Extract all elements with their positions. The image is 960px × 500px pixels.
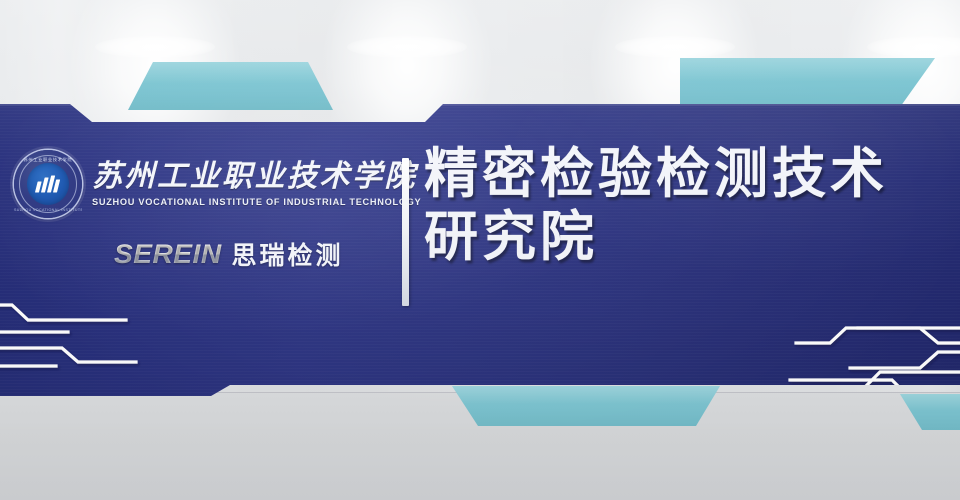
teal-slab-shading	[128, 62, 333, 110]
teal-slab-bottom-center	[452, 386, 720, 426]
seal-monogram-icon	[35, 176, 61, 193]
university-seal-icon: 苏州工业职业技术学院 SUZHOU VOCATIONAL INSTITUTE	[14, 150, 82, 218]
vertical-divider-bar	[402, 158, 409, 306]
partner-brand-en: SEREIN	[114, 239, 222, 270]
title-line-1: 精密检验检测技术	[424, 142, 954, 205]
title-line-2: 研究院	[424, 205, 954, 268]
seal-core	[27, 163, 69, 205]
teal-slab-top-left	[128, 62, 333, 110]
signage-scene: 苏州工业职业技术学院 SUZHOU VOCATIONAL INSTITUTE 苏…	[0, 0, 960, 500]
seal-arc-text-bottom: SUZHOU VOCATIONAL INSTITUTE	[14, 208, 82, 212]
trace-group-left	[0, 305, 136, 366]
university-logo-row: 苏州工业职业技术学院 SUZHOU VOCATIONAL INSTITUTE 苏…	[14, 150, 394, 218]
teal-slab-shading	[452, 386, 720, 426]
teal-slab-top-right	[680, 58, 935, 110]
university-name-cn: 苏州工业职业技术学院	[92, 161, 421, 193]
university-name-en: SUZHOU VOCATIONAL INSTITUTE OF INDUSTRIA…	[92, 197, 421, 207]
page-title: 精密检验检测技术 研究院	[424, 142, 954, 268]
signage-board: 苏州工业职业技术学院 SUZHOU VOCATIONAL INSTITUTE 苏…	[0, 100, 960, 396]
partner-brand-row: SEREIN 思瑞检测	[114, 236, 394, 272]
logo-block: 苏州工业职业技术学院 SUZHOU VOCATIONAL INSTITUTE 苏…	[14, 150, 394, 272]
partner-brand-cn: 思瑞检测	[232, 236, 344, 272]
teal-slab-shading	[680, 58, 935, 110]
board-content: 苏州工业职业技术学院 SUZHOU VOCATIONAL INSTITUTE 苏…	[0, 100, 960, 396]
university-names: 苏州工业职业技术学院 SUZHOU VOCATIONAL INSTITUTE O…	[92, 161, 421, 207]
